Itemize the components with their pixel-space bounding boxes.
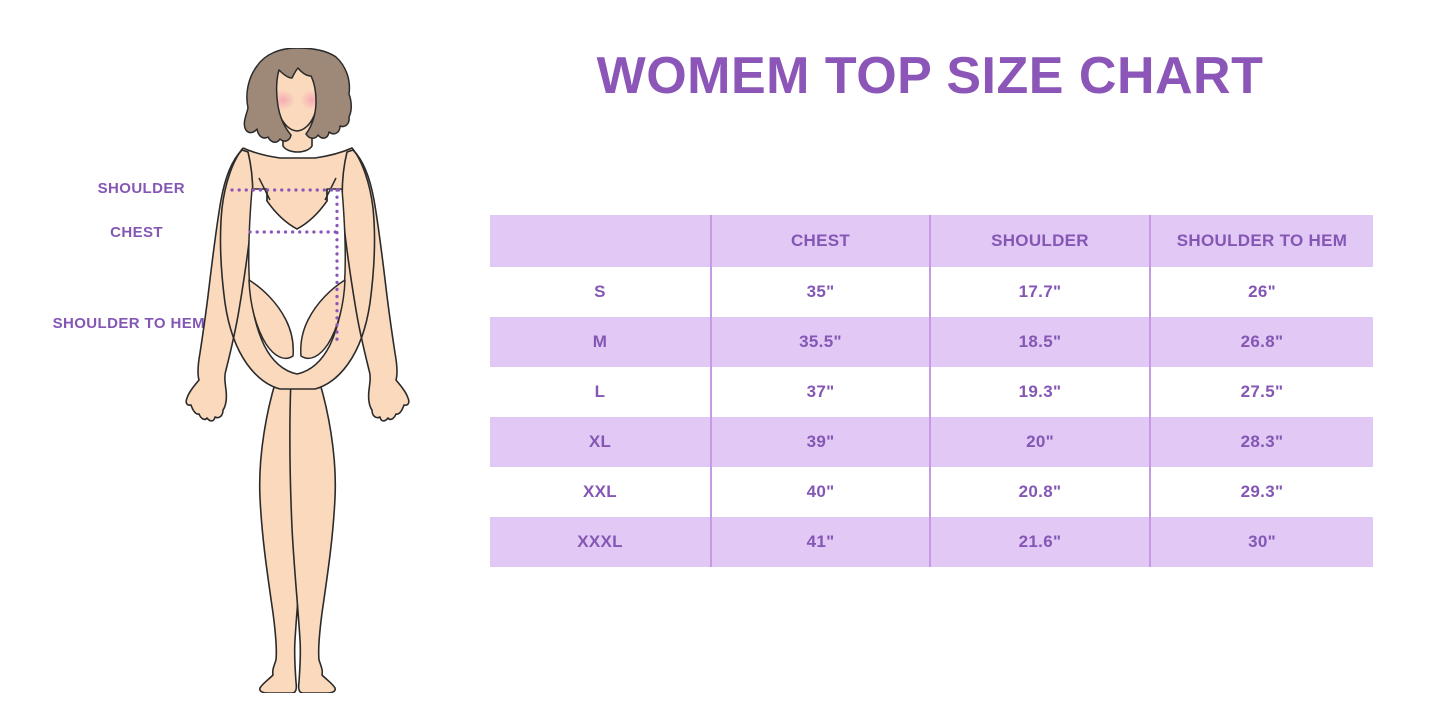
cell-shoulder-to-hem: 26" bbox=[1150, 267, 1373, 317]
table-row: M 35.5" 18.5" 26.8" bbox=[490, 317, 1373, 367]
cell-size: S bbox=[490, 267, 711, 317]
table-row: XL 39" 20" 28.3" bbox=[490, 417, 1373, 467]
measurement-label-chest: CHEST bbox=[0, 224, 163, 241]
measurement-label-shoulder: SHOULDER bbox=[0, 180, 185, 197]
measurement-label-shoulder-to-hem: SHOULDER TO HEM bbox=[0, 315, 205, 332]
cell-shoulder-to-hem: 30" bbox=[1150, 517, 1373, 567]
cell-chest: 35.5" bbox=[711, 317, 930, 367]
cell-shoulder: 21.6" bbox=[930, 517, 1150, 567]
cell-chest: 40" bbox=[711, 467, 930, 517]
table-row: XXXL 41" 21.6" 30" bbox=[490, 517, 1373, 567]
left-arm bbox=[186, 150, 253, 421]
cell-shoulder-to-hem: 28.3" bbox=[1150, 417, 1373, 467]
cell-shoulder: 17.7" bbox=[930, 267, 1150, 317]
column-header-size bbox=[490, 215, 711, 267]
cell-shoulder: 19.3" bbox=[930, 367, 1150, 417]
cell-shoulder-to-hem: 27.5" bbox=[1150, 367, 1373, 417]
right-arm bbox=[342, 150, 409, 421]
table-row: S 35" 17.7" 26" bbox=[490, 267, 1373, 317]
cell-chest: 37" bbox=[711, 367, 930, 417]
cell-shoulder: 18.5" bbox=[930, 317, 1150, 367]
column-header-shoulder: SHOULDER bbox=[930, 215, 1150, 267]
size-chart-page: WOMEM TOP SIZE CHART SHOULDER CHEST SHOU… bbox=[0, 0, 1445, 723]
cell-size: XXL bbox=[490, 467, 711, 517]
table-row: L 37" 19.3" 27.5" bbox=[490, 367, 1373, 417]
table-header-row: CHEST SHOULDER SHOULDER TO HEM bbox=[490, 215, 1373, 267]
cell-shoulder-to-hem: 26.8" bbox=[1150, 317, 1373, 367]
right-leg bbox=[290, 368, 335, 693]
size-chart-table: CHEST SHOULDER SHOULDER TO HEM S 35" 17.… bbox=[490, 215, 1373, 567]
cell-size: L bbox=[490, 367, 711, 417]
cell-chest: 39" bbox=[711, 417, 930, 467]
cell-shoulder: 20" bbox=[930, 417, 1150, 467]
cell-size: XL bbox=[490, 417, 711, 467]
cell-chest: 35" bbox=[711, 267, 930, 317]
female-body-figure bbox=[180, 48, 415, 693]
cell-size: M bbox=[490, 317, 711, 367]
cell-shoulder-to-hem: 29.3" bbox=[1150, 467, 1373, 517]
cell-chest: 41" bbox=[711, 517, 930, 567]
page-title: WOMEM TOP SIZE CHART bbox=[480, 50, 1380, 102]
cell-size: XXXL bbox=[490, 517, 711, 567]
column-header-chest: CHEST bbox=[711, 215, 930, 267]
column-header-shoulder-to-hem: SHOULDER TO HEM bbox=[1150, 215, 1373, 267]
figure-body-group bbox=[186, 48, 409, 693]
cell-shoulder: 20.8" bbox=[930, 467, 1150, 517]
table-row: XXL 40" 20.8" 29.3" bbox=[490, 467, 1373, 517]
